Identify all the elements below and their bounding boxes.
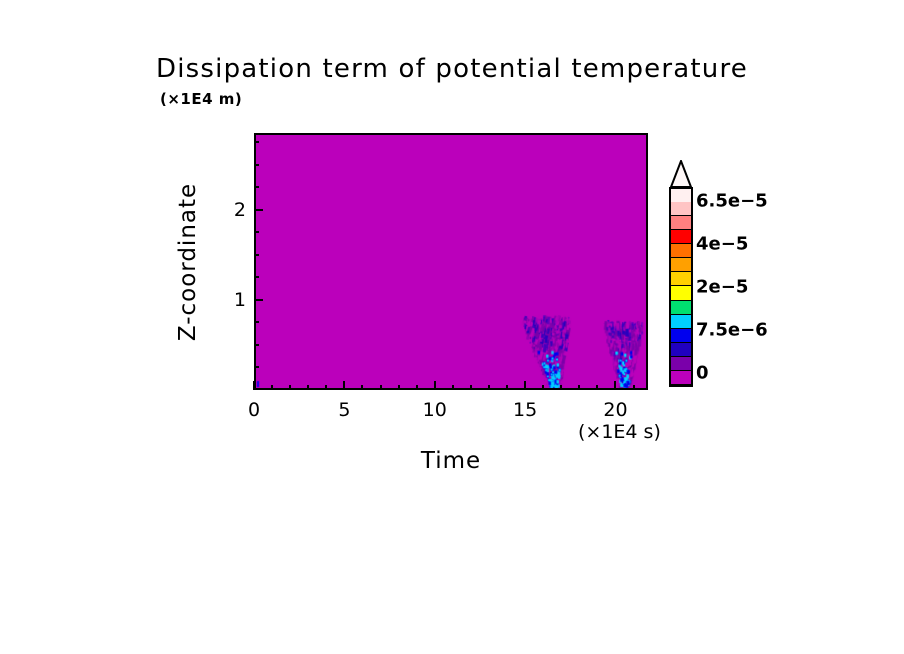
colorbar-band	[671, 189, 691, 202]
x-tick	[271, 385, 273, 390]
plot-area	[254, 133, 648, 390]
y-tick	[254, 141, 259, 143]
y-tick	[254, 366, 259, 368]
heatmap-canvas	[256, 135, 646, 388]
y-tick	[254, 344, 259, 346]
colorbar	[669, 187, 693, 387]
x-tick	[307, 385, 309, 390]
colorbar-tick-label: 7.5e−6	[696, 319, 768, 340]
y-axis-title: Z-coordinate	[175, 183, 201, 341]
x-axis-title: Time	[421, 448, 481, 474]
y-axis-unit-label: (×1E4 m)	[160, 90, 242, 108]
colorbar-band	[671, 343, 691, 357]
x-tick	[253, 381, 255, 390]
colorbar-tick-label: 2e−5	[696, 277, 748, 298]
x-tick	[380, 385, 382, 390]
y-tick	[254, 231, 259, 233]
x-axis-unit-label: (×1E4 s)	[578, 421, 661, 443]
colorbar-band	[671, 301, 691, 315]
x-tick	[506, 385, 508, 390]
y-tick	[254, 254, 259, 256]
x-tick	[325, 385, 327, 390]
x-tick	[289, 385, 291, 390]
colorbar-band	[671, 371, 691, 385]
colorbar-tick-label: 0	[696, 362, 709, 383]
y-tick	[254, 186, 259, 188]
colorbar-band	[671, 272, 691, 286]
x-tick	[452, 385, 454, 390]
x-tick	[361, 385, 363, 390]
x-tick	[524, 381, 526, 390]
page-title: Dissipation term of potential temperatur…	[0, 54, 904, 84]
colorbar-band	[671, 357, 691, 371]
colorbar-band	[671, 202, 691, 216]
x-tick	[398, 385, 400, 390]
x-tick	[416, 385, 418, 390]
y-tick	[254, 321, 259, 323]
colorbar-band	[671, 216, 691, 230]
y-tick	[254, 209, 263, 211]
colorbar-band	[671, 329, 691, 343]
x-tick	[488, 385, 490, 390]
x-tick	[542, 385, 544, 390]
colorbar-tick-label: 6.5e−5	[696, 191, 768, 212]
colorbar-band	[671, 286, 691, 300]
x-tick	[614, 381, 616, 390]
colorbar-band	[671, 230, 691, 244]
x-tick-label: 5	[338, 399, 350, 421]
y-tick	[254, 164, 259, 166]
y-tick	[254, 299, 263, 301]
x-tick	[578, 385, 580, 390]
x-tick	[633, 385, 635, 390]
x-tick-label: 20	[603, 399, 627, 421]
x-tick	[343, 381, 345, 390]
colorbar-overflow-arrow-icon	[669, 160, 693, 188]
x-tick	[470, 385, 472, 390]
colorbar-band	[671, 244, 691, 258]
colorbar-band	[671, 258, 691, 272]
x-tick	[560, 385, 562, 390]
x-tick-label: 15	[513, 399, 537, 421]
x-tick-label: 10	[423, 399, 447, 421]
x-tick	[596, 385, 598, 390]
x-tick-label: 0	[248, 399, 260, 421]
y-tick-label: 1	[224, 289, 246, 311]
y-tick	[254, 276, 259, 278]
colorbar-band	[671, 315, 691, 329]
x-tick	[434, 381, 436, 390]
colorbar-tick-label: 4e−5	[696, 234, 748, 255]
y-tick-label: 2	[224, 199, 246, 221]
